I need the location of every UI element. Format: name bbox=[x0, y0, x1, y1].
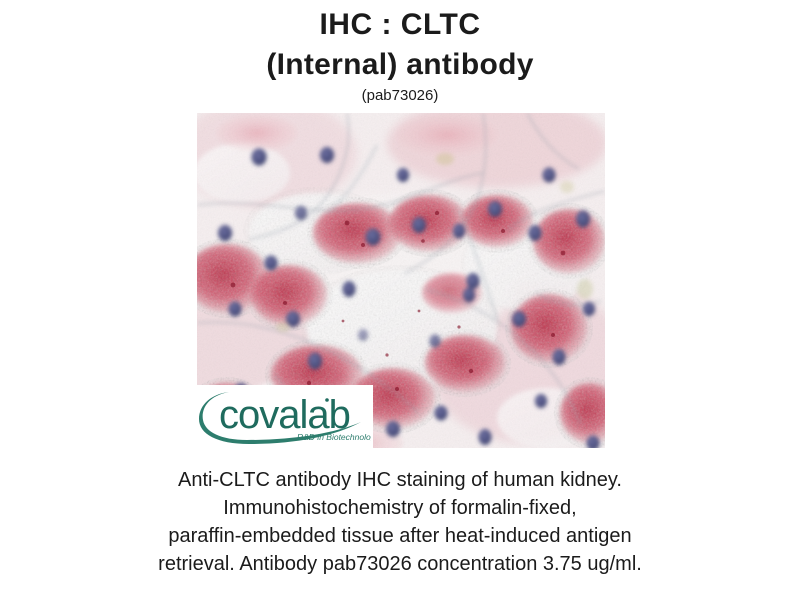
caption-line: retrieval. Antibody pab73026 concentrati… bbox=[0, 550, 800, 578]
page-title-secondary: (Internal) antibody bbox=[0, 45, 800, 85]
ihc-micrograph-figure: covalab R&D in Biotechnology bbox=[197, 113, 605, 448]
title-block: IHC : CLTC (Internal) antibody (pab73026… bbox=[0, 0, 800, 106]
caption-line: Immunohistochemistry of formalin-fixed, bbox=[0, 494, 800, 522]
figure-caption: Anti-CLTC antibody IHC staining of human… bbox=[0, 466, 800, 578]
page-title-primary: IHC : CLTC bbox=[0, 5, 800, 45]
caption-line: Anti-CLTC antibody IHC staining of human… bbox=[0, 466, 800, 494]
caption-line: paraffin-embedded tissue after heat-indu… bbox=[0, 522, 800, 550]
catalog-number: (pab73026) bbox=[0, 86, 800, 106]
covalab-logo-overlay: covalab R&D in Biotechnology bbox=[197, 385, 373, 448]
svg-text:covalab: covalab bbox=[219, 393, 350, 437]
svg-text:R&D in Biotechnology: R&D in Biotechnology bbox=[297, 432, 371, 442]
covalab-logo: covalab R&D in Biotechnology bbox=[199, 388, 371, 446]
